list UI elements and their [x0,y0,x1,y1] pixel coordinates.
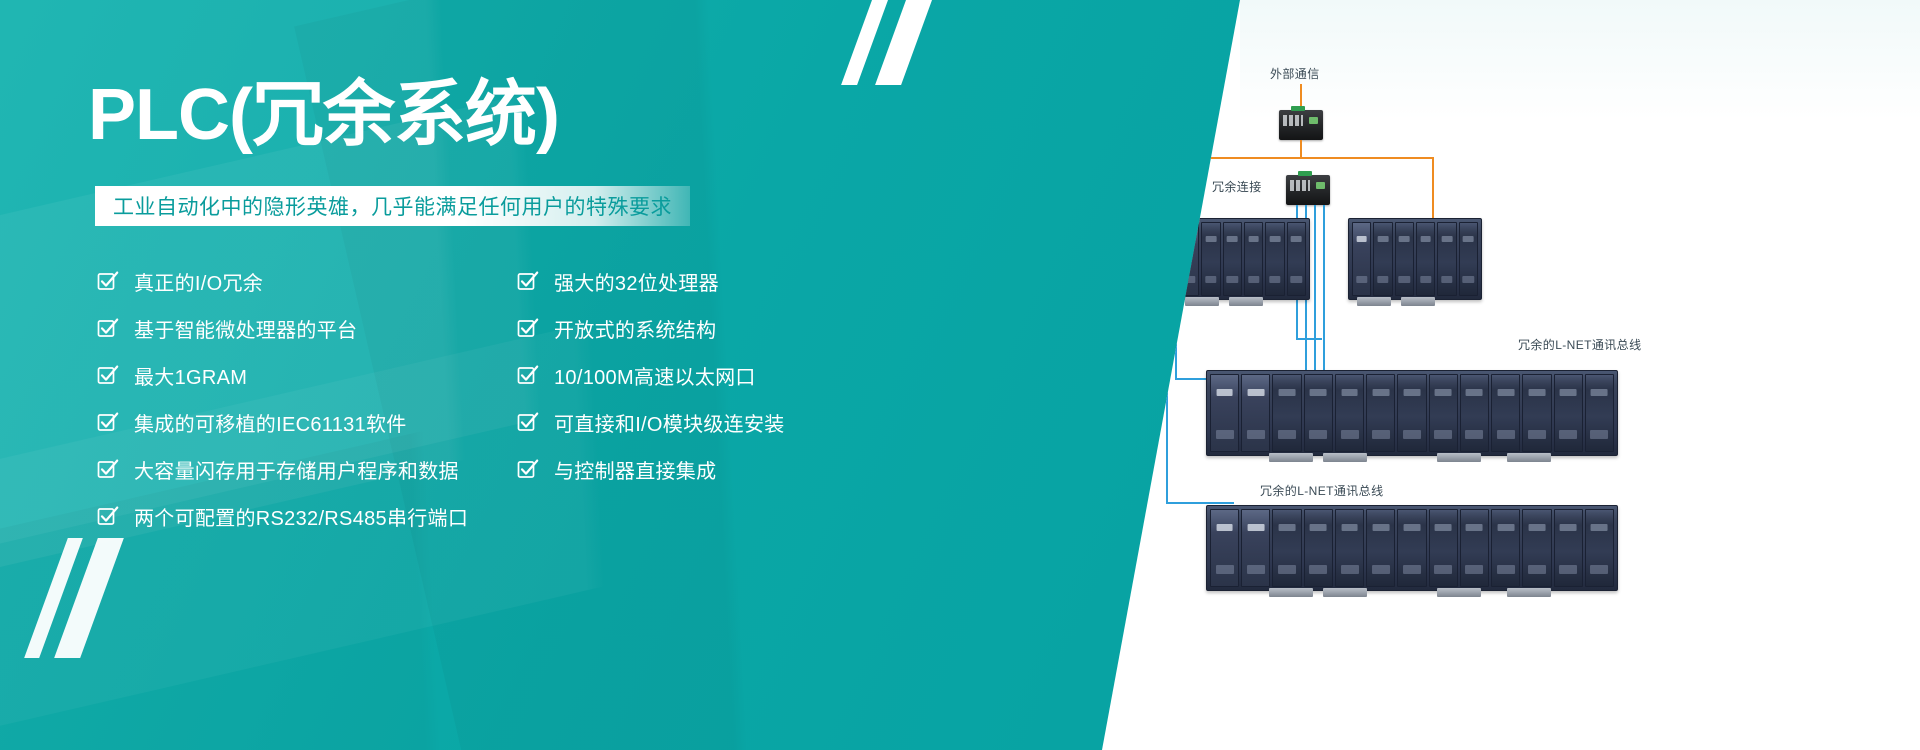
list-item-label: 基于智能微处理器的平台 [134,314,357,343]
rack-slot [1437,222,1456,296]
rack-connector [1323,588,1367,597]
rack-slot [1335,509,1364,587]
checkbox-checked-icon [516,363,540,387]
list-item: 大容量闪存用于存储用户程序和数据 [96,446,516,492]
list-item-label: 10/100M高速以太网口 [554,361,756,390]
list-item: 强大的32位处理器 [516,258,946,304]
wire-segment [1296,338,1322,340]
rack-connector [1185,297,1219,306]
rack-slot [1223,222,1242,296]
subtitle-bar: 工业自动化中的隐形英雄，几乎能满足任何用户的特殊要求 [95,186,690,226]
ethernet-switch-middle [1286,175,1330,205]
rack-slot [1304,509,1333,587]
diagram-label-redundant-link: 冗余连接 [1212,178,1262,195]
checkbox-checked-icon [96,457,120,481]
rack-slot [1491,374,1520,452]
switch-port-indicator [1298,171,1312,176]
rack-slot [1241,509,1270,587]
rack-slot [1395,222,1414,296]
wire-segment [1175,262,1177,380]
wire-segment [1166,262,1168,504]
diagram-label-lnet-bus-2: 冗余的L-NET通讯总线 [1260,482,1383,499]
rack-slot [1522,509,1551,587]
plc-product-banner: PLC(冗余系统) 工业自动化中的隐形英雄，几乎能满足任何用户的特殊要求 真正的… [0,0,1920,750]
list-item-label: 与控制器直接集成 [554,455,716,484]
list-item-label: 强大的32位处理器 [554,267,719,296]
wire-segment [1172,157,1434,159]
rack-connector [1229,297,1263,306]
decorative-slash-icon [875,0,943,85]
wire-segment [1300,140,1302,158]
page-title: PLC(冗余系统) [88,78,559,154]
rack-slot [1429,374,1458,452]
rack-slot [1210,509,1239,587]
plc-rack-cpu-a [1176,218,1310,300]
rack-slot [1397,509,1426,587]
list-item-label: 集成的可移植的IEC61131软件 [134,408,407,437]
list-item: 10/100M高速以太网口 [516,352,946,398]
list-item: 最大1GRAM [96,352,516,398]
rack-slot [1366,509,1395,587]
wire-segment [1166,502,1234,504]
rack-slot [1180,222,1199,296]
feature-list: 真正的I/O冗余 基于智能微处理器的平台 最 [96,258,956,540]
rack-slot [1335,374,1364,452]
rack-connector [1357,297,1391,306]
checkbox-checked-icon [516,410,540,434]
subtitle-text: 工业自动化中的隐形英雄，几乎能满足任何用户的特殊要求 [113,191,672,221]
rack-slot [1585,509,1614,587]
rack-slot [1287,222,1306,296]
rack-slot [1429,509,1458,587]
plc-rack-io-2 [1206,505,1618,591]
list-item: 真正的I/O冗余 [96,258,516,304]
network-diagram: 外部通信 冗余连接 [1060,0,1920,750]
rack-connector [1323,453,1367,462]
rack-connector [1437,453,1481,462]
list-item: 与控制器直接集成 [516,446,946,492]
wire-segment [1172,237,1190,239]
rack-slot [1554,509,1583,587]
rack-slot [1272,509,1301,587]
checkbox-checked-icon [516,457,540,481]
rack-slot [1491,509,1520,587]
checkbox-checked-icon [96,316,120,340]
rack-slot [1522,374,1551,452]
list-item-label: 可直接和I/O模块级连安装 [554,408,785,437]
checkbox-checked-icon [96,504,120,528]
rack-connector [1507,588,1551,597]
rack-connector [1507,453,1551,462]
checkbox-checked-icon [516,269,540,293]
checkbox-checked-icon [516,316,540,340]
rack-connector [1269,588,1313,597]
list-item-label: 两个可配置的RS232/RS485串行端口 [134,502,468,531]
list-item-label: 真正的I/O冗余 [134,267,263,296]
rack-connector [1437,588,1481,597]
list-item: 开放式的系统结构 [516,305,946,351]
rack-slot [1304,374,1333,452]
rack-slot [1460,509,1489,587]
list-item: 基于智能微处理器的平台 [96,305,516,351]
list-item-label: 最大1GRAM [134,361,247,390]
rack-slot [1397,374,1426,452]
checkbox-checked-icon [96,363,120,387]
rack-slot [1241,374,1270,452]
list-item-label: 大容量闪存用于存储用户程序和数据 [134,455,459,484]
rack-slot [1416,222,1435,296]
rack-slot [1554,374,1583,452]
ethernet-switch-top [1279,110,1323,140]
rack-slot [1366,374,1395,452]
rack-slot [1244,222,1263,296]
diagram-label-external-comm: 外部通信 [1270,65,1320,82]
rack-slot [1373,222,1392,296]
plc-rack-cpu-b [1348,218,1482,300]
rack-connector [1269,453,1313,462]
rack-slot [1352,222,1371,296]
feature-column-right: 强大的32位处理器 开放式的系统结构 10/ [516,258,946,540]
diagram-label-lnet-bus-1: 冗余的L-NET通讯总线 [1518,336,1641,353]
list-item: 两个可配置的RS232/RS485串行端口 [96,493,516,539]
checkbox-checked-icon [96,410,120,434]
checkbox-checked-icon [96,269,120,293]
rack-slot [1585,374,1614,452]
rack-slot [1272,374,1301,452]
list-item: 可直接和I/O模块级连安装 [516,399,946,445]
feature-column-left: 真正的I/O冗余 基于智能微处理器的平台 最 [96,258,516,540]
list-item-label: 开放式的系统结构 [554,314,716,343]
switch-port-indicator [1291,106,1305,111]
list-item: 集成的可移植的IEC61131软件 [96,399,516,445]
rack-slot [1210,374,1239,452]
network-diagram-panel: 外部通信 冗余连接 [1060,0,1920,750]
rack-slot [1201,222,1220,296]
plc-rack-io-1 [1206,370,1618,456]
rack-connector [1401,297,1435,306]
rack-slot [1265,222,1284,296]
rack-slot [1459,222,1478,296]
rack-slot [1460,374,1489,452]
wire-segment [1172,157,1174,239]
